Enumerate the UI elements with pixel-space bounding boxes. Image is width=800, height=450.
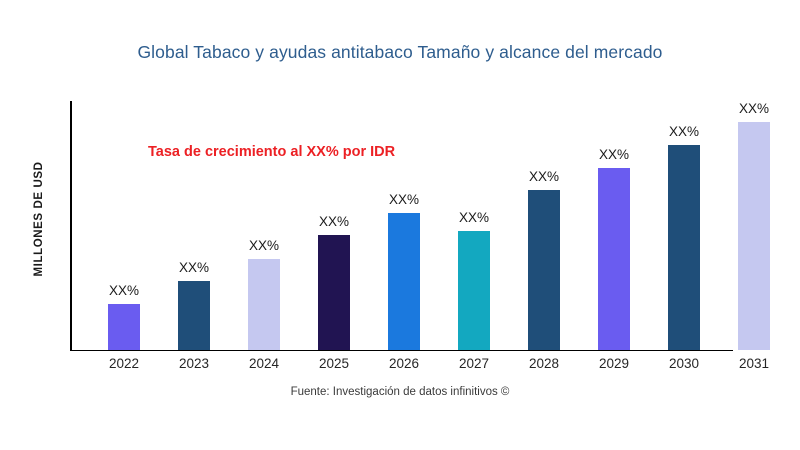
bar-2022[interactable]: [108, 304, 140, 350]
bar-value-label-2027: XX%: [439, 210, 509, 225]
x-tick-label-2025: 2025: [299, 356, 369, 371]
bar-value-label-2022: XX%: [89, 283, 159, 298]
bar-2027[interactable]: [458, 231, 490, 350]
bar-value-label-2026: XX%: [369, 192, 439, 207]
x-tick-label-2024: 2024: [229, 356, 299, 371]
x-tick-label-2028: 2028: [509, 356, 579, 371]
x-tick-label-2029: 2029: [579, 356, 649, 371]
bar-2023[interactable]: [178, 281, 210, 350]
x-tick-label-2026: 2026: [369, 356, 439, 371]
chart-container: Global Tabaco y ayudas antitabaco Tamaño…: [0, 0, 800, 450]
x-tick-label-2027: 2027: [439, 356, 509, 371]
bar-2030[interactable]: [668, 145, 700, 350]
x-tick-label-2023: 2023: [159, 356, 229, 371]
bar-value-label-2028: XX%: [509, 169, 579, 184]
bar-2026[interactable]: [388, 213, 420, 350]
bar-value-label-2025: XX%: [299, 214, 369, 229]
x-tick-label-2022: 2022: [89, 356, 159, 371]
bar-value-label-2024: XX%: [229, 238, 299, 253]
bar-2025[interactable]: [318, 235, 350, 350]
x-tick-label-2030: 2030: [649, 356, 719, 371]
bar-value-label-2030: XX%: [649, 124, 719, 139]
bar-2031[interactable]: [738, 122, 770, 350]
source-note: Fuente: Investigación de datos infinitiv…: [0, 386, 800, 398]
bar-series: XX%2022XX%2023XX%2024XX%2025XX%2026XX%20…: [0, 0, 800, 450]
bar-2028[interactable]: [528, 190, 560, 350]
bar-2024[interactable]: [248, 259, 280, 350]
bar-value-label-2029: XX%: [579, 147, 649, 162]
bar-value-label-2031: XX%: [719, 101, 789, 116]
bar-2029[interactable]: [598, 168, 630, 350]
bar-value-label-2023: XX%: [159, 260, 229, 275]
x-tick-label-2031: 2031: [719, 356, 789, 371]
